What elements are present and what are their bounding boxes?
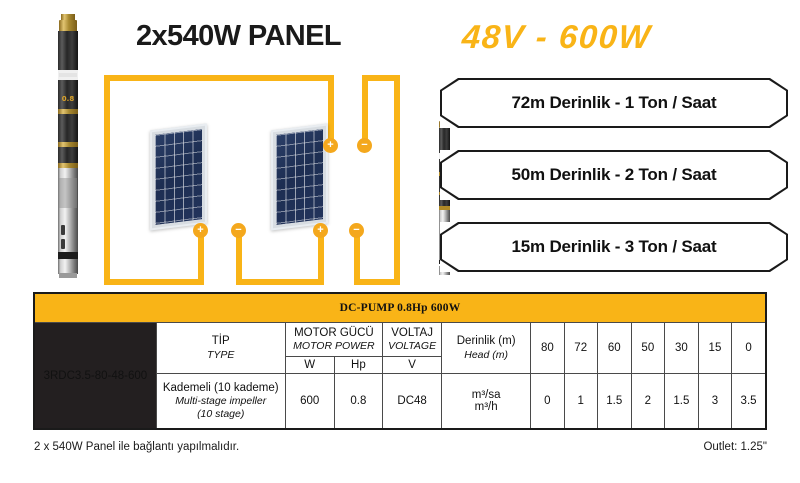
badge-label: 15m Derinlik - 3 Ton / Saat — [512, 237, 717, 257]
head-value: 30 — [664, 323, 698, 374]
wire-pump-plus-drop — [328, 75, 334, 145]
solar-panel-2 — [271, 124, 328, 231]
flow-value: 1 — [564, 374, 597, 430]
type-header: TİP TYPE — [156, 323, 285, 374]
pump-illustration: 0.8 — [48, 10, 88, 282]
solar-panel-1 — [150, 124, 207, 231]
svg-text:0.8: 0.8 — [62, 95, 75, 103]
head-value: 60 — [597, 323, 631, 374]
panel-title: 2x540W PANEL — [136, 20, 341, 53]
flow-value: 0 — [531, 374, 564, 430]
head-header-en: Head (m) — [444, 349, 528, 361]
table-title: DC-PUMP 0.8Hp 600W — [34, 293, 766, 323]
head-header-tr: Derinlik (m) — [444, 335, 528, 348]
flow-value: 3 — [698, 374, 731, 430]
wire-outer-right — [394, 75, 400, 285]
voltage-value: DC48 — [383, 374, 442, 430]
panel-cells — [276, 129, 323, 225]
connector-pump-minus: − — [357, 138, 372, 153]
wire-bottom-mid — [236, 279, 324, 285]
flow-unit-tr: m³/sa — [444, 389, 528, 401]
wire-bottom-right — [354, 279, 400, 285]
badge-label: 50m Derinlik - 2 Ton / Saat — [512, 165, 717, 185]
flow-value: 1.5 — [597, 374, 631, 430]
model-number-cell: 3RDC3.5-80-48-600 — [34, 323, 156, 430]
type-header-tr: TİP — [159, 335, 283, 348]
hp-value: 0.8 — [334, 374, 382, 430]
spec-badge: 72m Derinlik - 1 Ton / Saat — [440, 78, 788, 128]
spec-badge: 15m Derinlik - 3 Ton / Saat — [440, 222, 788, 272]
motor-power-header-en: MOTOR POWER — [288, 340, 380, 352]
motor-power-header-tr: MOTOR GÜCÜ — [288, 327, 380, 340]
wiring-diagram: + − + − + − — [104, 70, 399, 285]
connector-panel2-minus: − — [349, 223, 364, 238]
type-header-en: TYPE — [159, 349, 283, 361]
type-value-en2: (10 stage) — [159, 408, 283, 421]
voltage-header: VOLTAJ VOLTAGE — [383, 323, 442, 357]
connector-panel2-plus: + — [313, 223, 328, 238]
voltage-header-en: VOLTAGE — [385, 340, 439, 352]
product-spec-sheet: 0.8 2x540W PANEL 48V - 600W — [0, 0, 800, 483]
specification-table: DC-PUMP 0.8Hp 600W 3RDC3.5-80-48-600 TİP… — [33, 292, 767, 430]
flow-value: 1.5 — [664, 374, 698, 430]
wire-outer-left — [104, 75, 110, 285]
unit-hp: Hp — [334, 357, 382, 374]
head-value: 0 — [732, 323, 766, 374]
outlet-note: Outlet: 1.25" — [703, 441, 767, 453]
type-value: Kademeli (10 kademe) Multi-stage impelle… — [156, 374, 285, 430]
flow-value: 2 — [631, 374, 664, 430]
connector-panel1-minus: − — [231, 223, 246, 238]
table-header-row: 3RDC3.5-80-48-600 TİP TYPE MOTOR GÜCÜ MO… — [34, 323, 766, 357]
head-value: 80 — [531, 323, 564, 374]
connector-pump-plus: + — [323, 138, 338, 153]
unit-w: W — [285, 357, 334, 374]
voltage-title: 48V - 600W — [461, 18, 653, 56]
spec-badge: 50m Derinlik - 2 Ton / Saat — [440, 150, 788, 200]
voltage-header-tr: VOLTAJ — [385, 327, 439, 340]
table-title-row: DC-PUMP 0.8Hp 600W — [34, 293, 766, 323]
flow-unit-en: m³/h — [444, 401, 528, 413]
wire-bottom-left — [104, 279, 204, 285]
motor-power-header: MOTOR GÜCÜ MOTOR POWER — [285, 323, 382, 357]
type-value-en: Multi-stage impeller — [159, 395, 283, 408]
hero-pump-image: 0.8 — [48, 10, 88, 282]
connector-panel1-plus: + — [193, 223, 208, 238]
footer-note: 2 x 540W Panel ile bağlantı yapılmalıdır… — [34, 441, 239, 453]
head-value: 72 — [564, 323, 597, 374]
unit-v: V — [383, 357, 442, 374]
head-header: Derinlik (m) Head (m) — [442, 323, 531, 374]
head-value: 15 — [698, 323, 731, 374]
flow-value: 3.5 — [732, 374, 766, 430]
flow-unit-cell: m³/sa m³/h — [442, 374, 531, 430]
spec-badge-list: 72m Derinlik - 1 Ton / Saat 50m Derinlik… — [440, 78, 788, 294]
badge-label: 72m Derinlik - 1 Ton / Saat — [512, 93, 717, 113]
panel-cells — [155, 129, 202, 225]
wire-pump-minus-drop — [362, 75, 368, 145]
type-value-tr: Kademeli (10 kademe) — [159, 381, 283, 395]
wire-outer-top — [104, 75, 334, 81]
head-value: 50 — [631, 323, 664, 374]
watt-value: 600 — [285, 374, 334, 430]
